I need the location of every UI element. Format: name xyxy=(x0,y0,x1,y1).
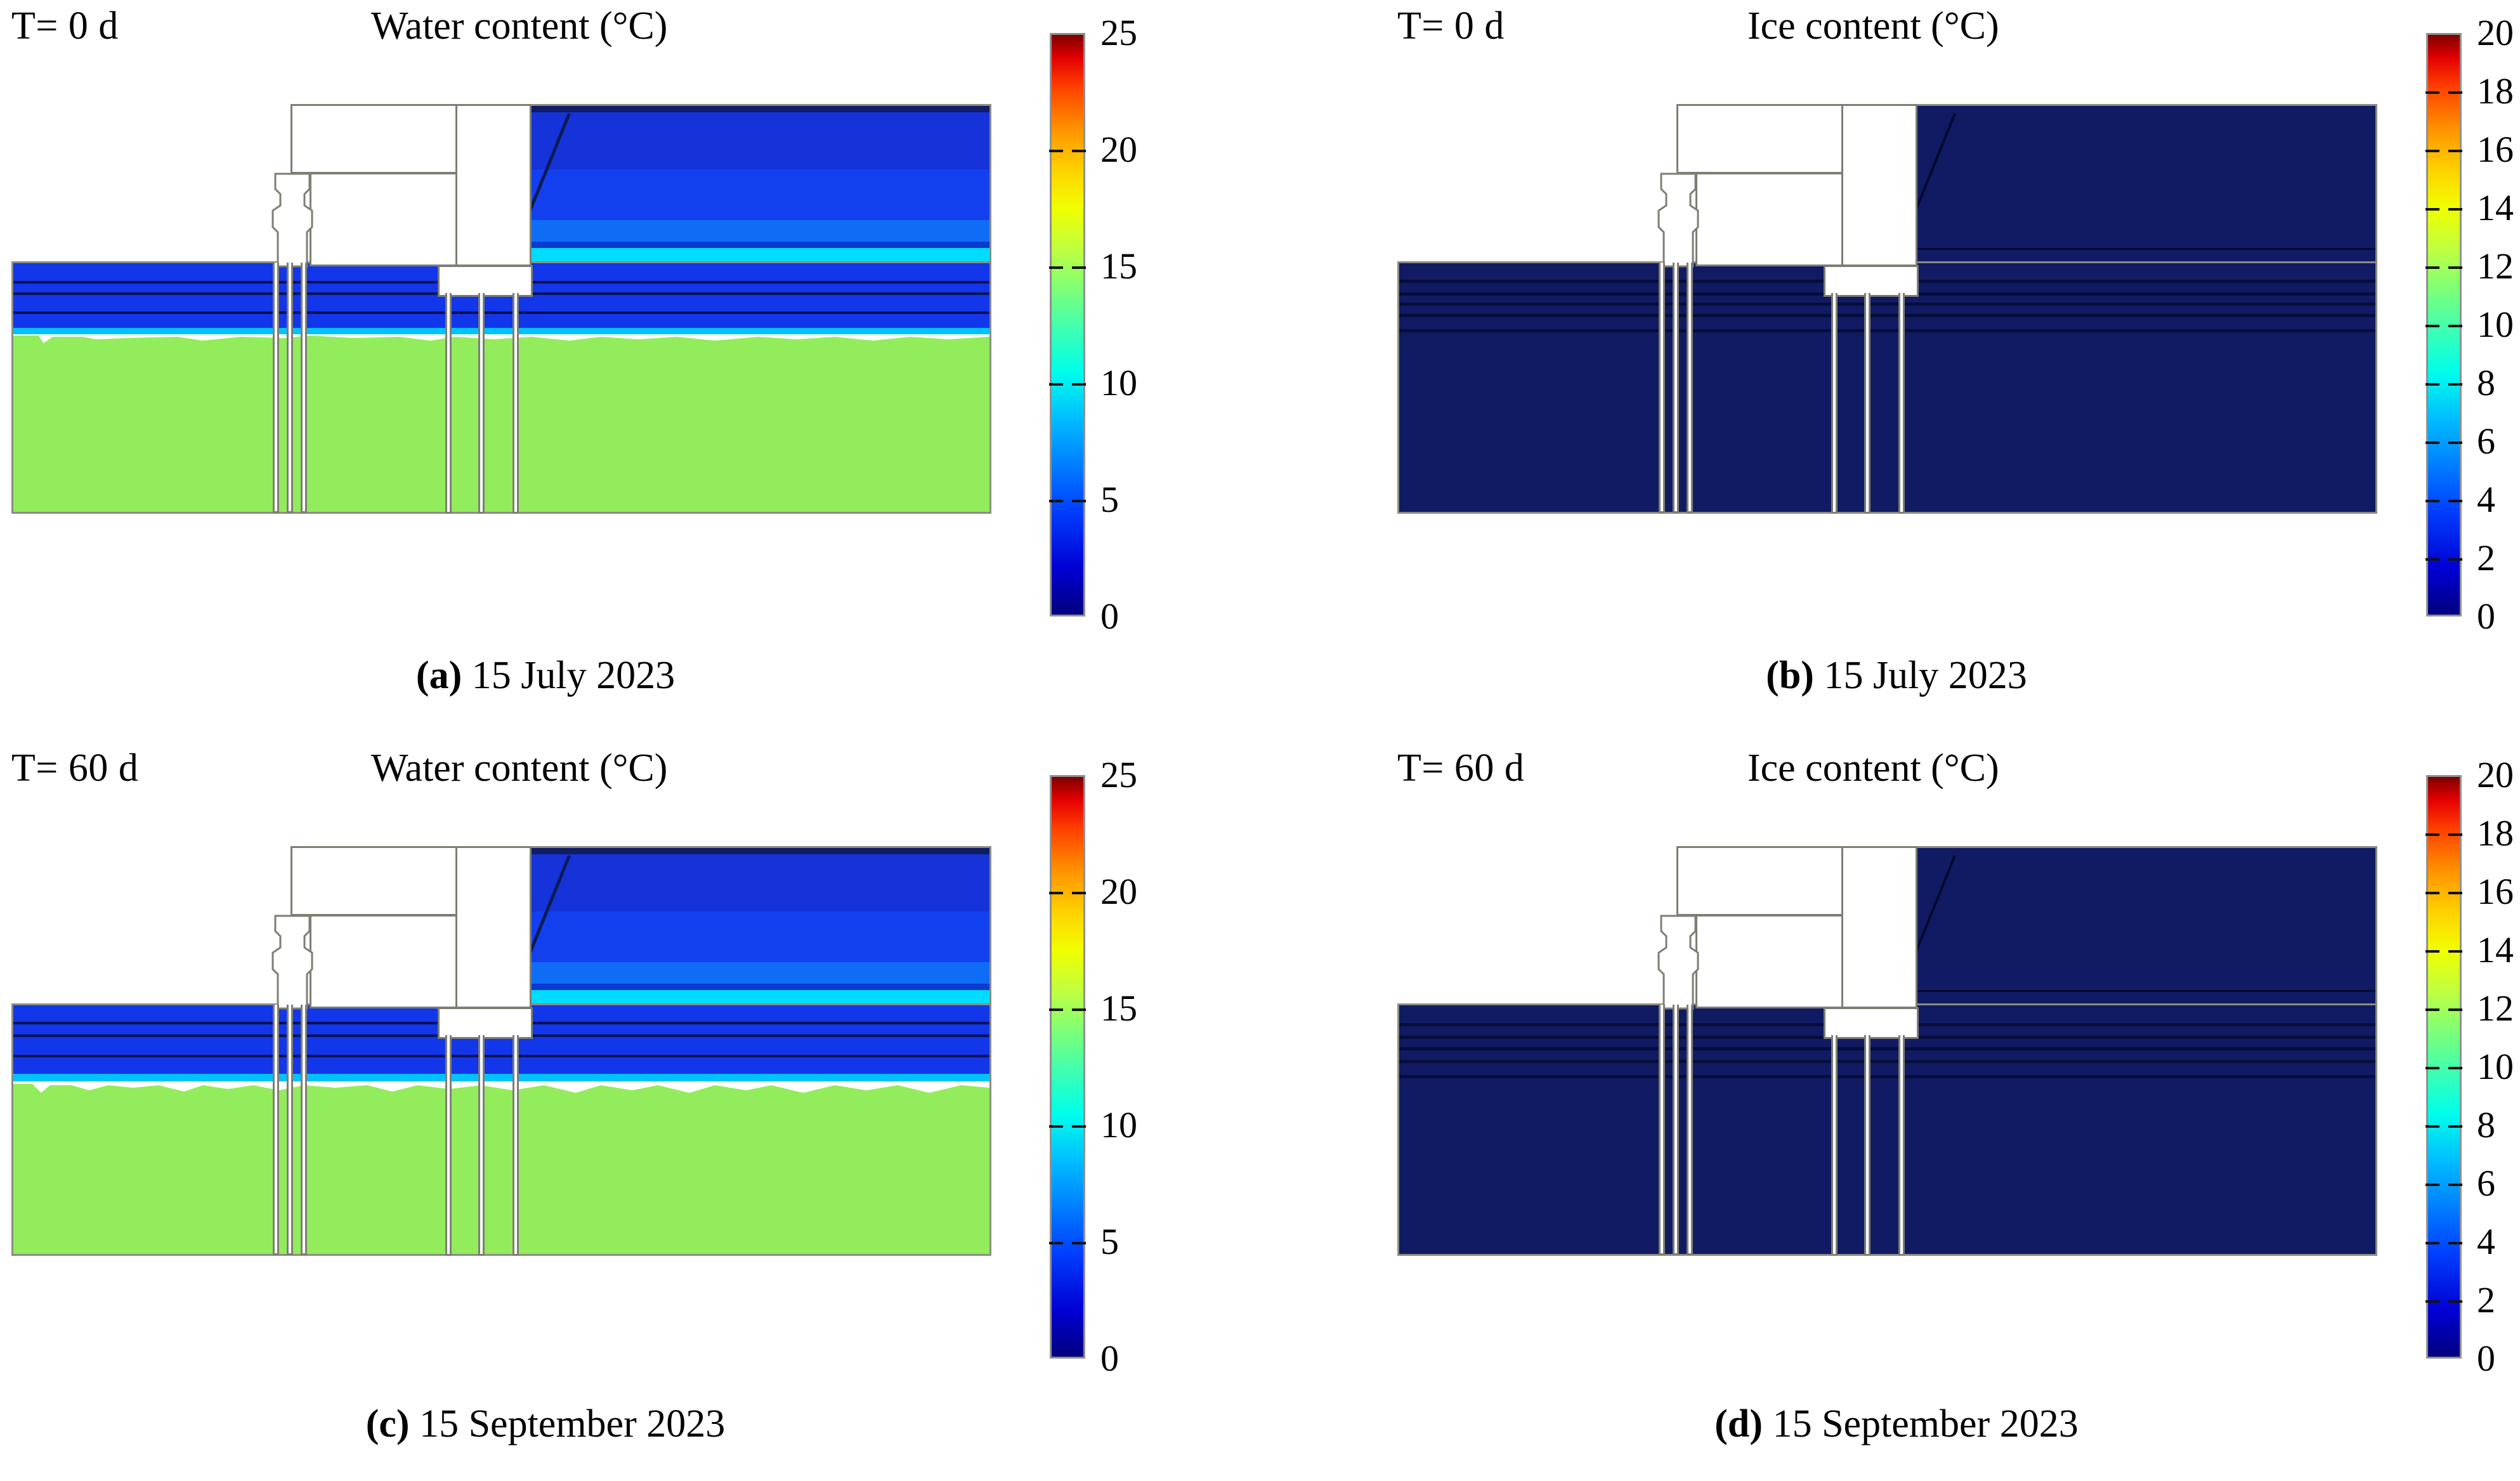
panel-c-soil-block xyxy=(11,1003,991,1256)
panel-d-embankment-line xyxy=(1914,990,2375,992)
cb-d-label-0: 0 xyxy=(2477,1340,2495,1377)
pile-right-2 xyxy=(478,293,485,514)
cb-a-tick-10 xyxy=(1072,383,1086,386)
cb-b-tickl-10 xyxy=(2425,325,2439,327)
layer-line-b3 xyxy=(1399,303,2375,306)
cb-d-tick-4 xyxy=(2448,1242,2462,1244)
cb-c-label-0: 0 xyxy=(1100,1340,1119,1377)
cb-c-label-15: 15 xyxy=(1100,990,1137,1027)
panel-b-time-label: T= 0 d xyxy=(1397,4,1505,49)
abutment-back-wall xyxy=(1841,104,1917,266)
pile-right-1 xyxy=(445,293,452,514)
cb-d-label-14: 14 xyxy=(2477,932,2514,969)
panel-c-time-label: T= 60 d xyxy=(11,746,138,791)
panel-b-title: Ice content (°C) xyxy=(1747,4,1999,49)
cb-b-tick-12 xyxy=(2448,266,2462,269)
cb-d-label-16: 16 xyxy=(2477,873,2514,910)
cb-c-tickl-10 xyxy=(1049,1125,1063,1128)
panel-a-embankment-slope-line xyxy=(528,113,571,249)
cb-a-label-15: 15 xyxy=(1100,248,1137,285)
panel-c-caption-tag: (c) xyxy=(366,1402,410,1445)
panel-d: T= 60 d Ice content (°C) xyxy=(1329,742,2520,1465)
cb-a-tick-5 xyxy=(1072,500,1086,502)
cb-b-tick-10 xyxy=(2448,325,2462,327)
cb-b-tickl-12 xyxy=(2425,266,2439,269)
panel-d-caption-text: 15 September 2023 xyxy=(1773,1402,2079,1445)
cb-b-label-18: 18 xyxy=(2477,73,2514,110)
pile-right-2 xyxy=(1864,293,1870,514)
layer-subgrade-c xyxy=(13,314,989,328)
cb-c-tickl-15 xyxy=(1049,1008,1063,1011)
cb-d-tick-14 xyxy=(2448,950,2462,953)
cb-a-tickl-20 xyxy=(1049,150,1063,152)
cb-c-tick-15 xyxy=(1072,1008,1086,1011)
stepped-pedestal xyxy=(270,915,315,1010)
cb-d-tick-10 xyxy=(2448,1067,2462,1069)
cb-d-label-18: 18 xyxy=(2477,815,2514,852)
cb-a-tickl-15 xyxy=(1049,266,1063,269)
cb-d-tickl-18 xyxy=(2425,833,2439,836)
cb-d-tickl-8 xyxy=(2425,1125,2439,1128)
cb-d-tickl-12 xyxy=(2425,1008,2439,1011)
panel-a-header: T= 0 d Water content (°C) xyxy=(0,0,1186,70)
pile-left-3 xyxy=(1687,1005,1693,1255)
cb-b-label-14: 14 xyxy=(2477,190,2514,226)
pile-right-3 xyxy=(512,293,519,514)
panel-a-embankment xyxy=(528,104,991,263)
cb-d-tickl-6 xyxy=(2425,1184,2439,1186)
cb-b-tickl-14 xyxy=(2425,208,2439,211)
panel-d-title: Ice content (°C) xyxy=(1747,746,1999,791)
cb-d-label-4: 4 xyxy=(2477,1223,2495,1260)
panel-c: T= 60 d Water content (°C) xyxy=(0,742,1186,1465)
cb-c-tick-20 xyxy=(1072,892,1086,894)
cb-b-label-8: 8 xyxy=(2477,365,2495,401)
figure-root: T= 0 d Water content (°C) xyxy=(0,0,2520,1481)
cb-b-tick-6 xyxy=(2448,441,2462,444)
cb-b-tickl-8 xyxy=(2425,383,2439,386)
panel-d-caption-tag: (d) xyxy=(1714,1402,1763,1445)
pile-right-2 xyxy=(1864,1035,1870,1256)
panel-a-caption-tag: (a) xyxy=(416,654,462,697)
pile-right-1 xyxy=(445,1035,452,1256)
pile-cap-right xyxy=(1824,1007,1919,1039)
cb-a-tick-15 xyxy=(1072,266,1086,269)
layer-line-d3 xyxy=(1399,1047,2375,1050)
stepped-pedestal xyxy=(1656,173,1701,268)
cb-d-tick-12 xyxy=(2448,1008,2462,1011)
panel-a-caption: (a) 15 July 2023 xyxy=(0,653,1091,698)
pile-right-1 xyxy=(1831,1035,1838,1256)
panel-b-embankment-line xyxy=(1914,248,2375,250)
pile-left-3 xyxy=(301,1005,307,1255)
layer-line-b5 xyxy=(1399,329,2375,332)
panel-a: T= 0 d Water content (°C) xyxy=(0,0,1186,717)
cb-a-tick-20 xyxy=(1072,150,1086,152)
pile-left-1 xyxy=(273,1005,279,1255)
cb-c-tickl-20 xyxy=(1049,892,1063,894)
cb-a-label-25: 25 xyxy=(1100,15,1137,51)
pile-left-1 xyxy=(273,263,279,513)
panel-a-colorbar-gradient xyxy=(1050,33,1085,617)
abutment-back-wall xyxy=(455,104,532,266)
cb-b-label-20: 20 xyxy=(2477,15,2514,51)
cb-d-tick-18 xyxy=(2448,833,2462,836)
cb-c-tickl-5 xyxy=(1049,1242,1063,1244)
panel-d-plot xyxy=(1397,837,2377,1256)
cb-b-label-2: 2 xyxy=(2477,540,2495,577)
cb-d-tickl-2 xyxy=(2425,1300,2439,1303)
layer-subgrade-b xyxy=(13,1037,989,1055)
panel-d-time-label: T= 60 d xyxy=(1397,746,1524,791)
panel-c-embankment-slope-line xyxy=(528,855,571,991)
pile-left-2 xyxy=(287,1005,293,1255)
panel-c-header: T= 60 d Water content (°C) xyxy=(0,742,1186,812)
pile-right-1 xyxy=(1831,293,1838,514)
panel-d-caption: (d) 15 September 2023 xyxy=(1329,1402,2464,1447)
cb-d-tick-8 xyxy=(2448,1125,2462,1128)
panel-b: T= 0 d Ice content (°C) xyxy=(1329,0,2520,717)
cb-d-tick-6 xyxy=(2448,1184,2462,1186)
panel-d-colorbar: 20 18 16 14 12 10 8 6 4 2 0 xyxy=(2426,775,2462,1359)
cb-d-tickl-14 xyxy=(2425,950,2439,953)
pile-left-3 xyxy=(301,263,307,513)
panel-b-soil-block xyxy=(1397,261,2377,514)
panel-b-caption-text: 15 July 2023 xyxy=(1824,654,2027,697)
panel-b-embankment-slope-line xyxy=(1914,113,1956,249)
cb-b-tick-4 xyxy=(2448,500,2462,502)
panel-b-header: T= 0 d Ice content (°C) xyxy=(1329,0,2520,70)
panel-c-caption-text: 15 September 2023 xyxy=(419,1402,725,1445)
cb-b-tick-18 xyxy=(2448,91,2462,94)
panel-d-embankment xyxy=(1914,846,2377,1005)
pile-left-2 xyxy=(1673,263,1679,513)
cb-a-tickl-10 xyxy=(1049,383,1063,386)
cb-b-tickl-16 xyxy=(2425,150,2439,152)
cb-d-tickl-4 xyxy=(2425,1242,2439,1244)
abutment-back-wall xyxy=(455,846,532,1008)
panel-c-title: Water content (°C) xyxy=(371,746,667,791)
stepped-pedestal xyxy=(270,173,315,268)
stepped-pedestal xyxy=(1656,915,1701,1010)
cb-b-label-6: 6 xyxy=(2477,423,2495,460)
cb-a-tickl-5 xyxy=(1049,500,1063,502)
panel-c-embankment xyxy=(528,846,991,1005)
pile-cap-right xyxy=(438,1007,533,1039)
cb-c-label-25: 25 xyxy=(1100,757,1137,793)
panel-c-plot xyxy=(11,837,991,1256)
pile-cap-right xyxy=(438,265,533,297)
panel-a-title: Water content (°C) xyxy=(371,4,667,49)
pile-right-3 xyxy=(1898,1035,1905,1256)
pile-cap-right xyxy=(1824,265,1919,297)
cb-d-label-10: 10 xyxy=(2477,1048,2514,1085)
cb-d-label-12: 12 xyxy=(2477,990,2514,1027)
layer-subgrade-b xyxy=(13,295,989,311)
cb-b-tick-16 xyxy=(2448,150,2462,152)
panel-c-colorbar-gradient xyxy=(1050,775,1085,1359)
layer-deep-soil xyxy=(13,1106,989,1254)
layer-line-d5 xyxy=(1399,1075,2375,1078)
panel-d-soil-block xyxy=(1397,1003,2377,1256)
panel-b-plot xyxy=(1397,95,2377,514)
pile-left-2 xyxy=(1673,1005,1679,1255)
pile-right-3 xyxy=(512,1035,519,1256)
panel-d-header: T= 60 d Ice content (°C) xyxy=(1329,742,2520,812)
panel-b-embankment xyxy=(1914,104,2377,263)
cb-b-tickl-18 xyxy=(2425,91,2439,94)
panel-b-caption-tag: (b) xyxy=(1766,654,1814,697)
cb-c-tick-5 xyxy=(1072,1242,1086,1244)
layer-deep-soil xyxy=(13,351,989,512)
cb-b-tick-14 xyxy=(2448,208,2462,211)
cb-c-label-10: 10 xyxy=(1100,1107,1137,1144)
cb-c-label-5: 5 xyxy=(1100,1223,1119,1260)
cb-d-label-6: 6 xyxy=(2477,1165,2495,1202)
panel-a-colorbar: 25 20 15 10 5 0 xyxy=(1050,33,1085,617)
panel-c-colorbar: 25 20 15 10 5 0 xyxy=(1050,775,1085,1359)
layer-line-b4 xyxy=(1399,314,2375,317)
cb-d-tick-16 xyxy=(2448,892,2462,894)
cb-b-label-0: 0 xyxy=(2477,598,2495,635)
panel-c-caption: (c) 15 September 2023 xyxy=(0,1402,1091,1447)
cb-b-tickl-4 xyxy=(2425,500,2439,502)
cb-d-tickl-16 xyxy=(2425,892,2439,894)
cb-c-label-20: 20 xyxy=(1100,873,1137,910)
layer-line-d4 xyxy=(1399,1060,2375,1063)
panel-d-embankment-slope-line xyxy=(1914,855,1956,991)
cb-d-label-20: 20 xyxy=(2477,757,2514,793)
panel-a-plot xyxy=(11,95,991,514)
panel-a-caption-text: 15 July 2023 xyxy=(472,654,675,697)
cb-a-label-10: 10 xyxy=(1100,365,1137,401)
panel-b-colorbar: 20 18 16 14 12 10 8 6 4 2 0 xyxy=(2426,33,2462,617)
abutment-back-wall xyxy=(1841,846,1917,1008)
cb-b-tickl-2 xyxy=(2425,558,2439,561)
panel-a-soil-block xyxy=(11,261,991,514)
pile-right-2 xyxy=(478,1035,485,1256)
cb-d-tickl-10 xyxy=(2425,1067,2439,1069)
cb-a-label-5: 5 xyxy=(1100,481,1119,518)
panel-c-thaw-front xyxy=(13,1071,989,1107)
cb-d-label-2: 2 xyxy=(2477,1282,2495,1319)
cb-b-label-16: 16 xyxy=(2477,131,2514,168)
cb-b-label-4: 4 xyxy=(2477,481,2495,518)
cb-b-tick-2 xyxy=(2448,558,2462,561)
pile-left-1 xyxy=(1659,1005,1665,1255)
pile-left-2 xyxy=(287,263,293,513)
pile-left-3 xyxy=(1687,263,1693,513)
cb-b-label-10: 10 xyxy=(2477,306,2514,343)
pile-left-1 xyxy=(1659,263,1665,513)
cb-b-label-12: 12 xyxy=(2477,248,2514,285)
cb-a-label-20: 20 xyxy=(1100,131,1137,168)
panel-a-time-label: T= 0 d xyxy=(11,4,119,49)
cb-d-label-8: 8 xyxy=(2477,1107,2495,1144)
cb-a-label-0: 0 xyxy=(1100,598,1119,635)
panel-a-thaw-front xyxy=(13,327,989,352)
pile-right-3 xyxy=(1898,293,1905,514)
cb-b-tick-8 xyxy=(2448,383,2462,386)
panel-b-caption: (b) 15 July 2023 xyxy=(1329,653,2464,698)
cb-d-tick-2 xyxy=(2448,1300,2462,1303)
cb-c-tick-10 xyxy=(1072,1125,1086,1128)
cb-b-tickl-6 xyxy=(2425,441,2439,444)
